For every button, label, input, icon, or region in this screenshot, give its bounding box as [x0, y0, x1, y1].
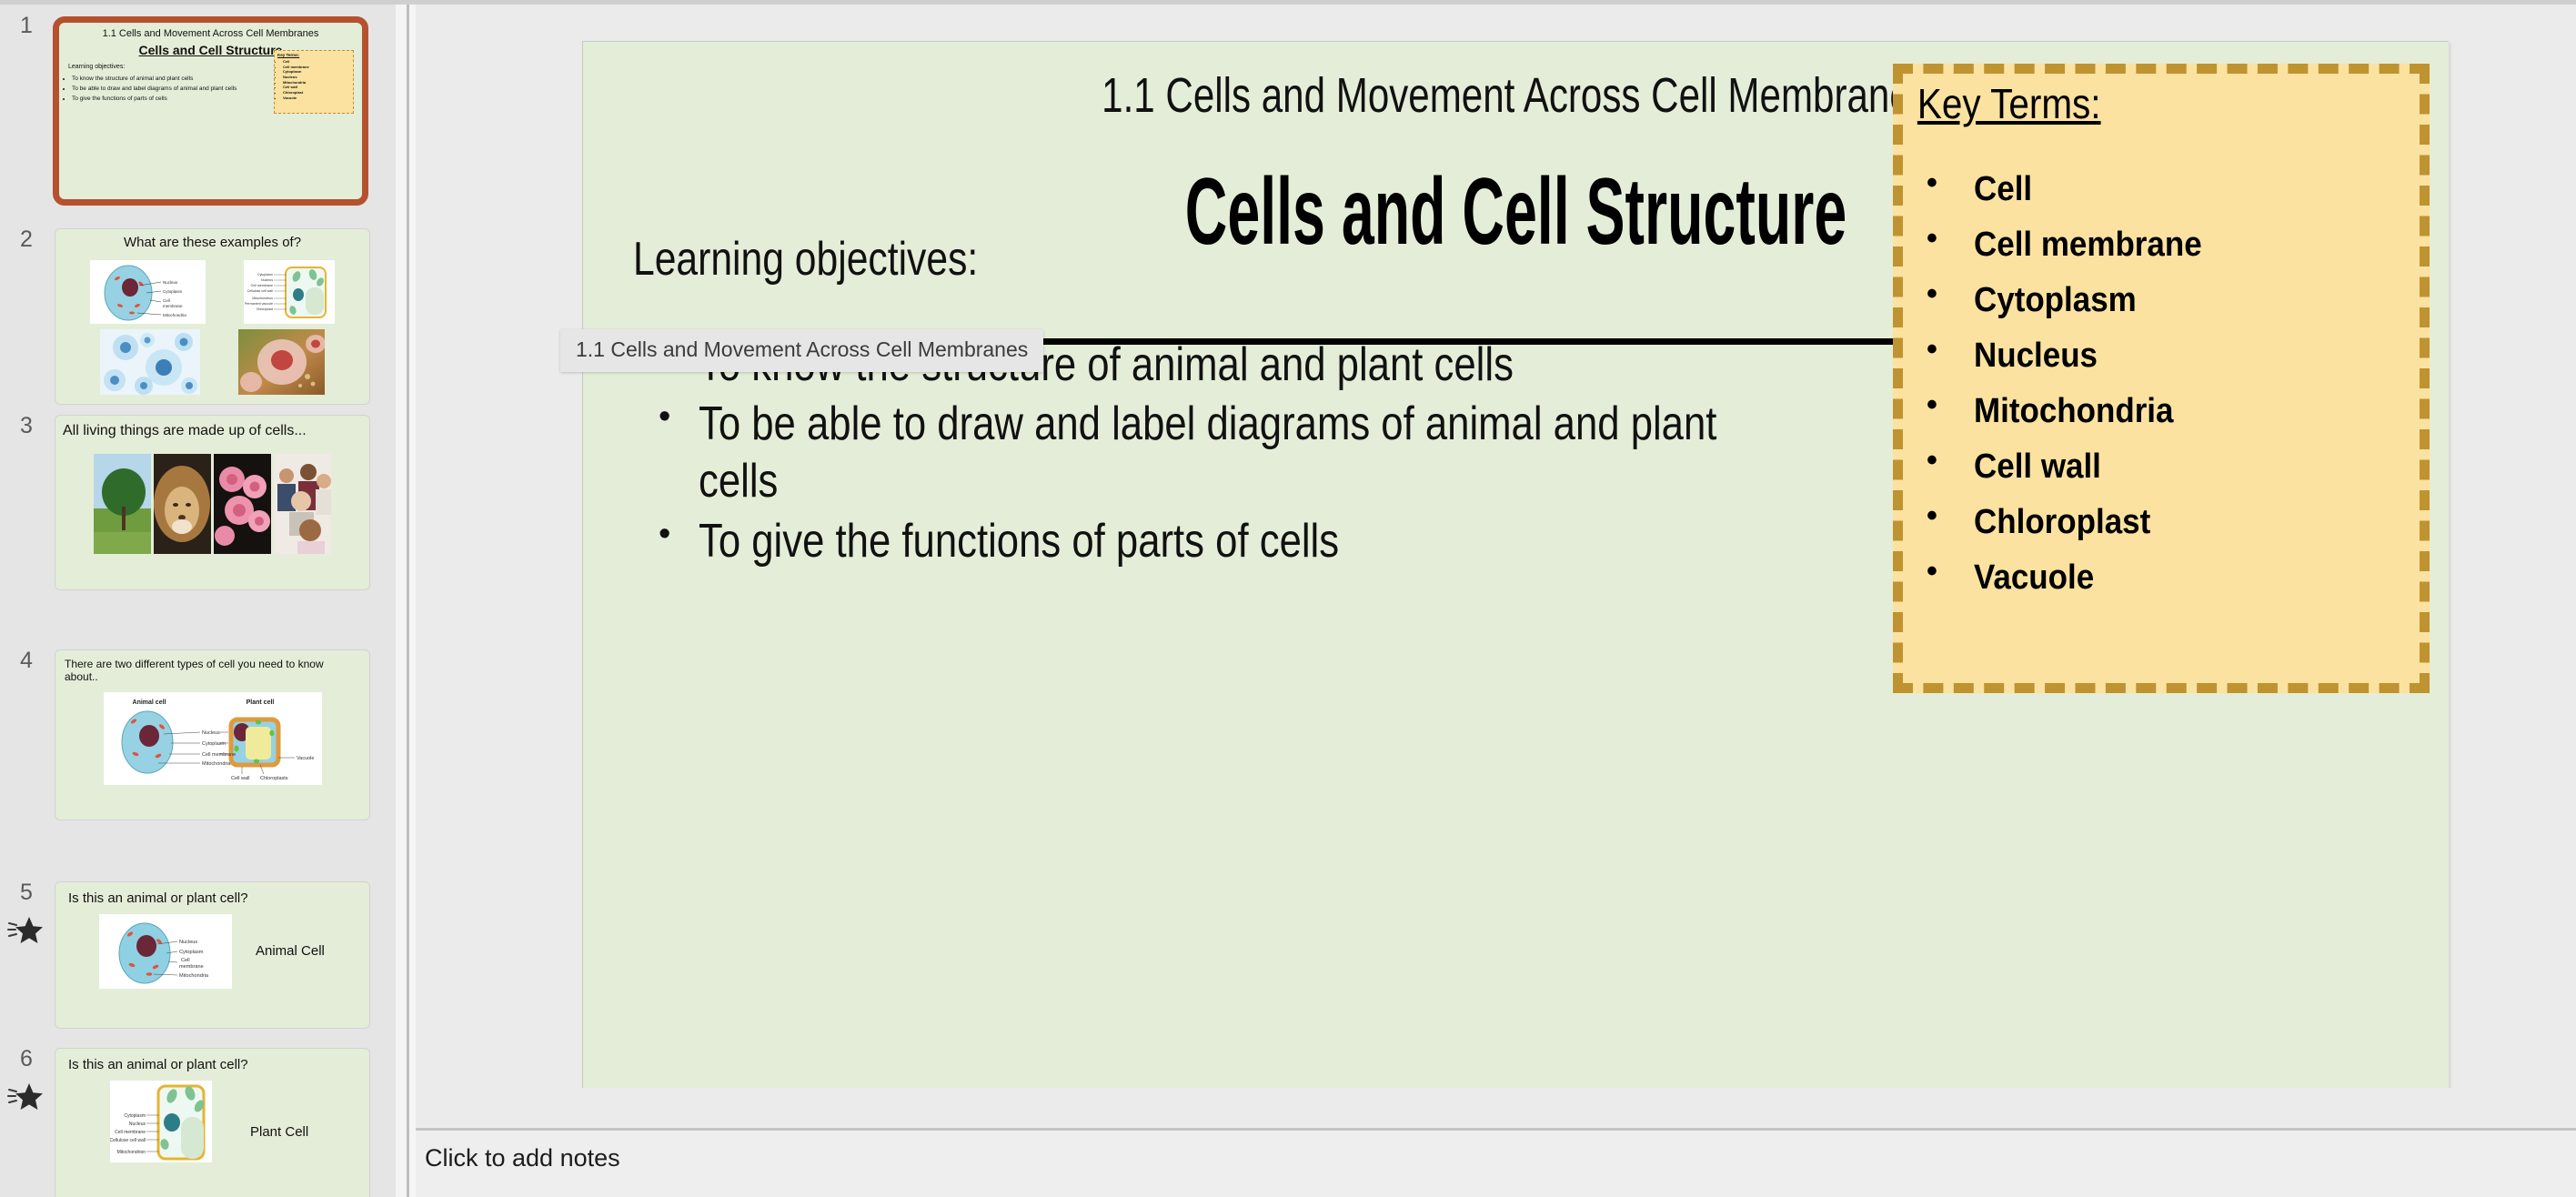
svg-text:Nucleus: Nucleus [261, 278, 273, 282]
svg-text:membrane: membrane [163, 304, 183, 308]
key-term-item: Mitochondria [1903, 394, 2420, 428]
key-term-text: Cell wall [1974, 449, 2101, 484]
thumbnail-row-5[interactable]: 5 Is this an animal or plant cell? [0, 876, 396, 1062]
svg-text:membrane: membrane [179, 964, 204, 970]
key-term-item: Nucleus [1903, 338, 2420, 373]
svg-text:Animal cell: Animal cell [132, 699, 166, 706]
svg-text:Plant cell: Plant cell [246, 699, 274, 706]
svg-text:Cytoplasm: Cytoplasm [163, 289, 183, 294]
key-term-text: Nucleus [1974, 338, 2098, 373]
slide-number-5: 5 [11, 880, 42, 906]
svg-text:Cytoplasm: Cytoplasm [257, 273, 273, 277]
panel-splitter[interactable] [396, 5, 416, 1197]
svg-text:Cell wall: Cell wall [231, 776, 249, 781]
slide-thumbnail-panel[interactable]: 1 1.1 Cells and Movement Across Cell Mem… [0, 5, 396, 1197]
slide-thumbnail-2[interactable]: What are these examples of? [55, 228, 370, 405]
slide-number-2: 2 [11, 226, 42, 253]
svg-text:Cell: Cell [181, 958, 190, 963]
slide-thumbnail-5[interactable]: Is this an animal or plant cell? [55, 881, 370, 1029]
animation-star-icon [7, 1081, 44, 1111]
svg-text:Cell: Cell [163, 298, 170, 303]
learning-objective-item: To give the functions of parts of cells [633, 513, 1788, 570]
animation-star-icon [7, 914, 44, 945]
editing-area-bottom-fill [416, 1088, 2576, 1128]
svg-text:Nucleus: Nucleus [163, 280, 178, 285]
thumb2-image-row-bottom [55, 329, 369, 395]
key-term-text: Chloroplast [1974, 505, 2150, 539]
svg-text:Nucleus: Nucleus [129, 1122, 146, 1127]
key-term-item: Cytoplasm [1903, 283, 2420, 317]
thumb1-key-terms-box: Key Terms: Cell Cell membrane Cytoplasm … [274, 50, 354, 114]
blue-cells-photo [100, 329, 200, 395]
thumb6-title: Is this an animal or plant cell? [55, 1049, 369, 1072]
key-term-text: Cell [1974, 172, 2032, 206]
svg-text:Cytoplasm: Cytoplasm [202, 741, 226, 747]
svg-text:Cellulose cell wall: Cellulose cell wall [110, 1138, 146, 1143]
thumb2-image-row-top: NucleusCytoplasm Cellmembrane Mitochondr… [55, 260, 369, 324]
plant-cell-diagram-image: CytoplasmNucleus Cell membraneCellulose … [244, 260, 335, 324]
tree-photo [94, 454, 151, 554]
slide-editing-area[interactable]: 1.1 Cells and Movement Across Cell Membr… [416, 5, 2576, 1128]
people-photo [274, 454, 331, 554]
thumb1-objectives-list: To know the structure of animal and plan… [59, 75, 246, 104]
thumb1-key-terms-list: Cell Cell membrane Cytoplasm Nucleus Mit… [275, 59, 353, 100]
key-term-item: Cell membrane [1903, 227, 2420, 262]
lion-photo [154, 454, 211, 554]
slide-thumbnail-3[interactable]: All living things are made up of cells..… [55, 415, 370, 590]
svg-text:Mitochondria: Mitochondria [179, 973, 209, 979]
thumbnail-row-1[interactable]: 1 1.1 Cells and Movement Across Cell Mem… [0, 9, 396, 218]
key-term-item: Cell wall [1903, 449, 2420, 484]
thumb5-title: Is this an animal or plant cell? [55, 882, 369, 906]
key-term-item: Chloroplast [1903, 505, 2420, 539]
thumb1-key-terms-heading: Key Terms: [275, 51, 353, 57]
svg-text:Cell membrane: Cell membrane [251, 284, 273, 287]
svg-text:Cytoplasm: Cytoplasm [179, 950, 204, 955]
svg-text:Mitochondria: Mitochondria [163, 313, 186, 317]
thumbnail-row-4[interactable]: 4 There are two different types of cell … [0, 644, 396, 830]
thumbnail-row-3[interactable]: 3 All living things are made up of cells… [0, 409, 396, 596]
current-slide-canvas[interactable]: 1.1 Cells and Movement Across Cell Membr… [582, 41, 2449, 1092]
learning-objectives-heading: Learning objectives: [633, 235, 1580, 285]
svg-text:Mitochondria: Mitochondria [202, 761, 231, 767]
animal-and-plant-cell-diagram: Animal cell Plant cell [104, 692, 322, 785]
key-terms-box[interactable]: Key Terms: Cell Cell membrane Cytoplasm … [1893, 64, 2430, 693]
key-term-text: Cytoplasm [1974, 283, 2137, 317]
key-term-text: Cell membrane [1974, 227, 2202, 262]
thumb2-title: What are these examples of? [55, 229, 369, 251]
thumb1-key-term: Vacuole [283, 96, 353, 101]
svg-text:Cell membrane: Cell membrane [115, 1130, 146, 1135]
key-term-text: Vacuole [1974, 560, 2094, 595]
learning-objective-text: To be able to draw and label diagrams of… [699, 396, 1788, 511]
svg-text:Nucleus: Nucleus [179, 940, 197, 945]
slide-number-4: 4 [11, 648, 42, 674]
slide-thumbnail-4[interactable]: There are two different types of cell yo… [55, 649, 370, 820]
thumb4-image-row: Animal cell Plant cell [55, 692, 369, 785]
thumb3-image-row [55, 454, 369, 554]
svg-text:Cellulose cell wall: Cellulose cell wall [247, 289, 274, 293]
splitter-handle[interactable] [407, 5, 409, 1197]
svg-text:Nucleus: Nucleus [202, 730, 220, 736]
plant-cell-diagram-image: CytoplasmNucleus Cell membraneCellulose … [110, 1081, 212, 1162]
key-terms-list: Cell Cell membrane Cytoplasm Nucleus Mit… [1903, 172, 2420, 595]
slide-thumbnail-1[interactable]: 1.1 Cells and Movement Across Cell Membr… [53, 16, 368, 206]
svg-text:Vacuole: Vacuole [297, 756, 314, 761]
thumb5-answer: Animal Cell [256, 943, 325, 959]
svg-text:Permanent vacuole: Permanent vacuole [245, 302, 273, 306]
svg-text:Mitochondrion: Mitochondrion [252, 297, 273, 300]
learning-objectives-block[interactable]: Learning objectives: To know the structu… [633, 235, 1788, 572]
slide-number-6: 6 [11, 1046, 42, 1072]
svg-text:Mitochondrion: Mitochondrion [117, 1150, 146, 1155]
key-term-item: Cell [1903, 172, 2420, 206]
notes-placeholder[interactable]: Click to add notes [425, 1144, 620, 1172]
learning-objective-text: To give the functions of parts of cells [699, 513, 1788, 570]
thumb1-objective: To give the functions of parts of cells [72, 95, 246, 104]
svg-text:Chloroplast: Chloroplast [257, 307, 273, 311]
animal-cell-diagram-image: NucleusCytoplasm Cellmembrane Mitochondr… [99, 914, 232, 989]
animal-cell-diagram-image: NucleusCytoplasm Cellmembrane Mitochondr… [90, 260, 206, 324]
notes-pane[interactable]: Click to add notes [416, 1131, 2576, 1197]
key-term-item: Vacuole [1903, 560, 2420, 595]
svg-text:Cytoplasm: Cytoplasm [124, 1113, 146, 1119]
thumb3-title: All living things are made up of cells..… [55, 416, 369, 439]
thumb1-kicker: 1.1 Cells and Movement Across Cell Membr… [59, 23, 362, 40]
thumbnail-row-2[interactable]: 2 What are these examples of? [0, 223, 396, 409]
svg-text:Cell membrane: Cell membrane [202, 752, 236, 758]
key-term-text: Mitochondria [1974, 394, 2173, 428]
svg-text:Chloroplasts: Chloroplasts [260, 776, 288, 781]
thumbnail-row-6[interactable]: 6 Is this an animal or plant cell? [0, 1042, 396, 1197]
thumb1-objective: To know the structure of animal and plan… [72, 75, 246, 84]
roses-photo [214, 454, 271, 554]
cell-microscopy-photo [238, 329, 325, 395]
slide-thumbnail-6[interactable]: Is this an animal or plant cell? [55, 1048, 370, 1197]
thumb6-answer: Plant Cell [250, 1124, 308, 1140]
hover-tooltip: 1.1 Cells and Movement Across Cell Membr… [560, 329, 1043, 372]
learning-objective-item: To be able to draw and label diagrams of… [633, 396, 1788, 511]
key-terms-heading: Key Terms: [1903, 74, 2358, 128]
slide-number-1: 1 [11, 13, 42, 39]
slide-number-3: 3 [11, 413, 42, 439]
thumb1-objective: To be able to draw and label diagrams of… [72, 85, 246, 94]
thumb4-title: There are two different types of cell yo… [55, 650, 369, 683]
powerpoint-normal-view: 1 1.1 Cells and Movement Across Cell Mem… [0, 0, 2576, 1197]
